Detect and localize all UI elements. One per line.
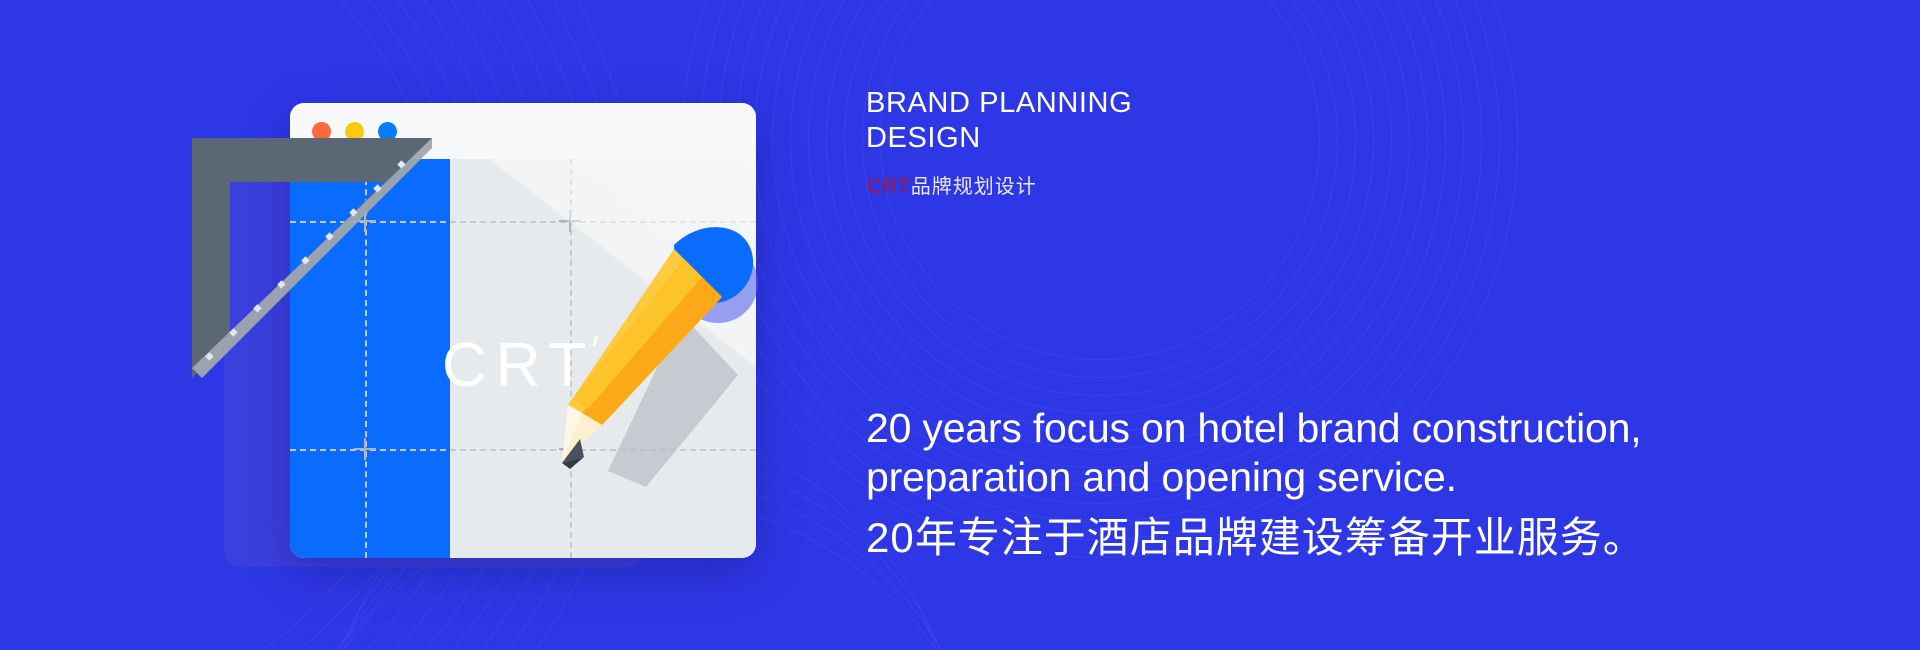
headline-cn: 20年专注于酒店品牌建设筹备开业服务。 <box>866 510 1646 566</box>
brand-banner: CRT′ <box>0 0 1920 650</box>
eyebrow-subtitle-cn-text: 品牌规划设计 <box>911 176 1037 198</box>
pencil-icon <box>550 225 790 505</box>
eyebrow-heading: BRAND PLANNING DESIGN <box>866 86 1286 156</box>
eyebrow-subtitle-cn: CRT品牌规划设计 <box>867 170 1037 199</box>
headline-en-line-1: 20 years focus on hotel brand constructi… <box>866 404 1746 453</box>
hero-illustration: CRT′ <box>230 95 790 575</box>
headline-en: 20 years focus on hotel brand constructi… <box>866 404 1746 502</box>
banner-copy: BRAND PLANNING DESIGN CRT品牌规划设计 20 years… <box>866 0 1866 650</box>
eyebrow-brand-crt: CRT <box>867 176 911 198</box>
eyebrow-line-2: DESIGN <box>866 121 1286 156</box>
headline-en-line-2: preparation and opening service. <box>866 453 1746 502</box>
triangle-ruler-icon <box>184 130 454 400</box>
eyebrow-line-1: BRAND PLANNING <box>866 86 1286 121</box>
